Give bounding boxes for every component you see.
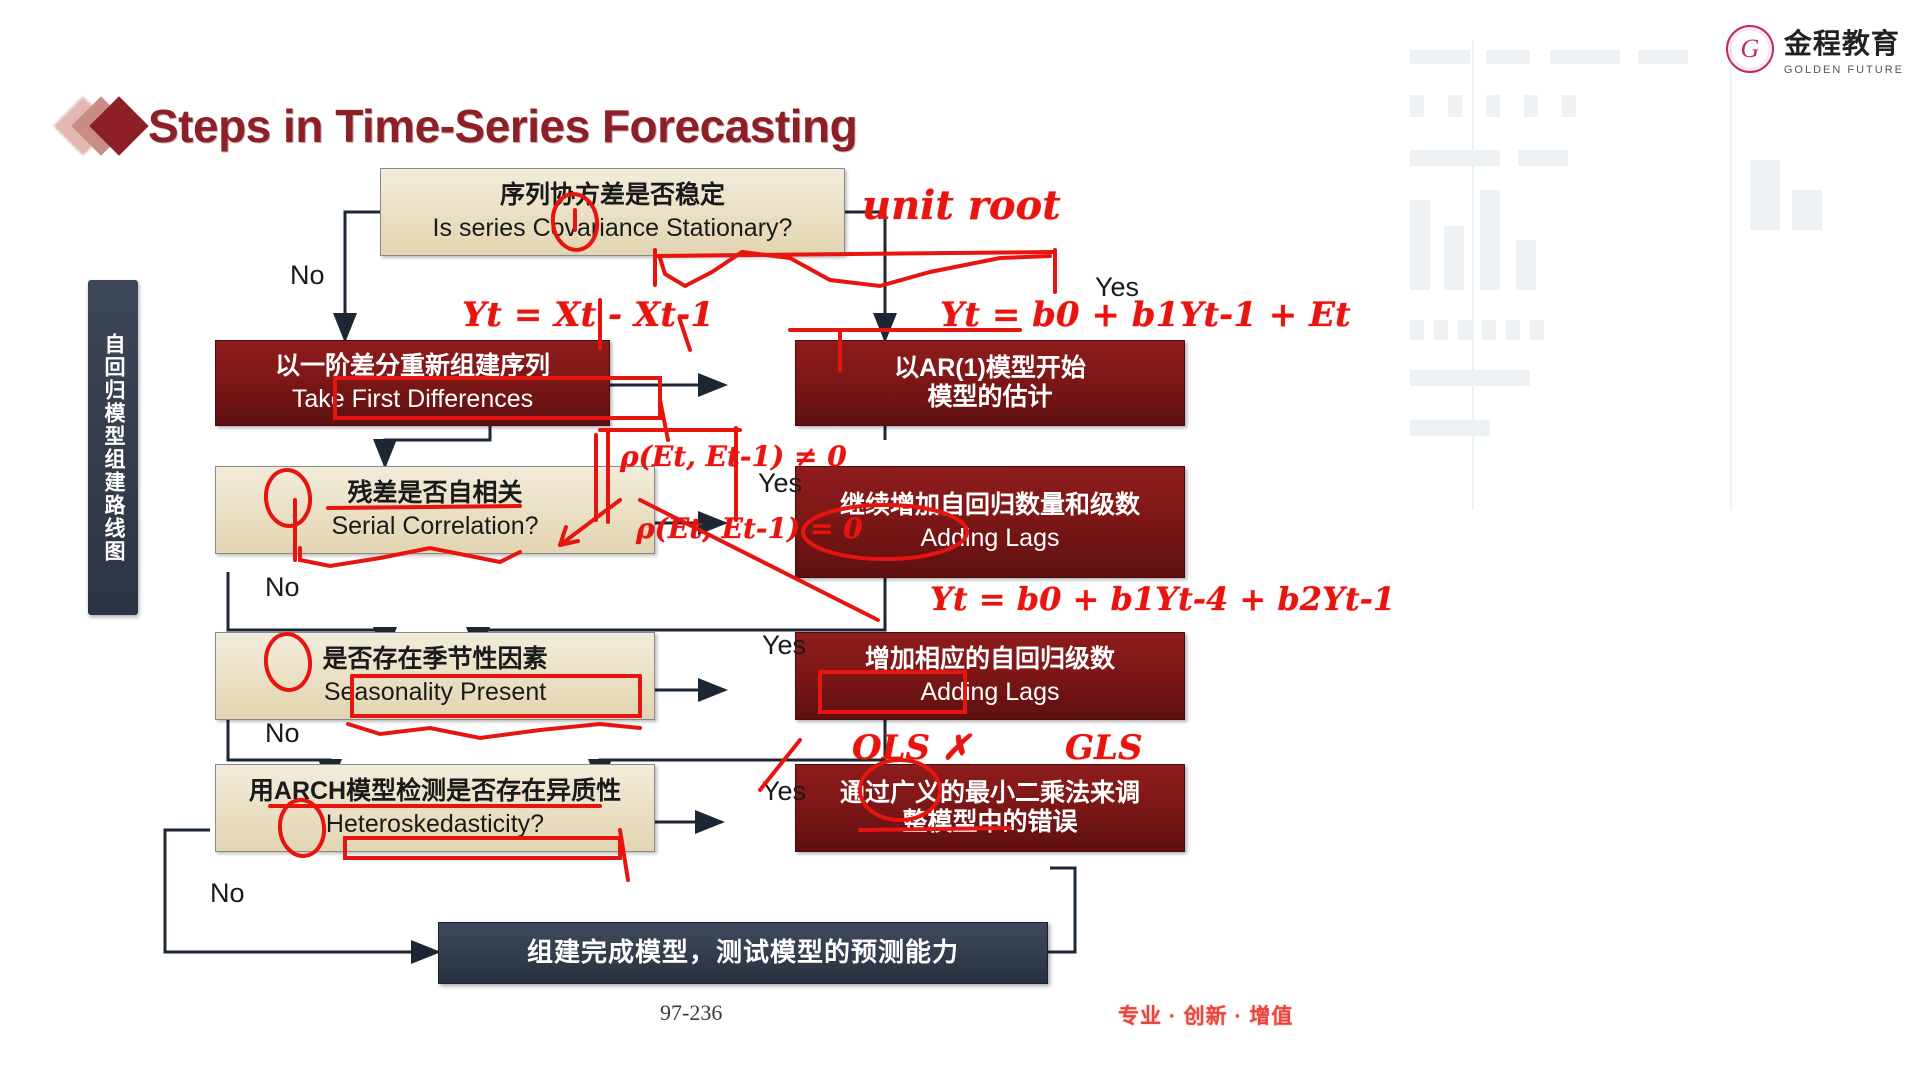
edge-label-no-stationary: No <box>290 260 325 291</box>
node-label-en: Is series Covariance Stationary? <box>433 214 793 243</box>
node-label-cn: 组建完成模型，测试模型的预测能力 <box>527 938 959 968</box>
node-label-cn: 增加相应的自回归级数 <box>865 645 1115 674</box>
node-label-en: Heteroskedasticity? <box>326 810 544 839</box>
edge-label-yes-hetero: Yes <box>762 776 806 807</box>
screenshot-root: Steps in Time-Series Forecasting 自回归模型组建… <box>0 0 1920 1080</box>
flow-node-heteroskedasticity[interactable]: 用ARCH模型检测是否存在异质性 Heteroskedasticity? <box>215 764 655 852</box>
flow-node-seasonality-present[interactable]: 是否存在季节性因素 Seasonality Present <box>215 632 655 720</box>
edge-label-no-hetero: No <box>210 878 245 909</box>
node-label-en: Seasonality Present <box>324 678 546 707</box>
node-label-en: 整模型中的错误 <box>902 808 1077 837</box>
flowchart: 序列协方差是否稳定 Is series Covariance Stationar… <box>0 0 1400 1020</box>
node-label-cn: 通过广义的最小二乘法来调 <box>840 779 1140 808</box>
node-label-en: Adding Lags <box>920 678 1059 707</box>
flow-node-start-ar1-model[interactable]: 以AR(1)模型开始 模型的估计 <box>795 340 1185 426</box>
node-label-cn: 残差是否自相关 <box>347 479 522 508</box>
right-panel: 金程教育 GOLDEN FUTURE <box>1400 0 1920 1080</box>
presentation-slide: Steps in Time-Series Forecasting 自回归模型组建… <box>0 0 1400 1080</box>
node-label-cn: 继续增加自回归数量和级数 <box>840 491 1140 520</box>
flowchart-connectors <box>0 0 1400 1020</box>
node-label-en: Take First Differences <box>292 385 533 414</box>
node-label-en: 模型的估计 <box>927 383 1052 412</box>
flow-node-covariance-stationary[interactable]: 序列协方差是否稳定 Is series Covariance Stationar… <box>380 168 845 256</box>
edge-label-yes-serial: Yes <box>758 468 802 499</box>
node-label-cn: 序列协方差是否稳定 <box>500 181 725 210</box>
flow-node-add-seasonal-lags[interactable]: 增加相应的自回归级数 Adding Lags <box>795 632 1185 720</box>
edge-label-yes-season: Yes <box>762 630 806 661</box>
node-label-cn: 是否存在季节性因素 <box>322 645 547 674</box>
edge-label-no-season: No <box>265 718 300 749</box>
slide-slogan: 专业 · 创新 · 增值 <box>1118 1000 1293 1030</box>
flow-node-model-complete[interactable]: 组建完成模型，测试模型的预测能力 <box>438 922 1048 984</box>
screen-share-ghost <box>1400 40 1920 520</box>
flow-node-take-first-differences[interactable]: 以一阶差分重新组建序列 Take First Differences <box>215 340 610 426</box>
node-label-cn: 以AR(1)模型开始 <box>894 354 1086 383</box>
edge-label-no-serial: No <box>265 572 300 603</box>
flow-node-serial-correlation[interactable]: 残差是否自相关 Serial Correlation? <box>215 466 655 554</box>
node-label-en: Adding Lags <box>920 524 1059 553</box>
node-label-en: Serial Correlation? <box>331 512 538 541</box>
slide-page-number: 97-236 <box>660 1000 722 1026</box>
flow-node-use-gls[interactable]: 通过广义的最小二乘法来调 整模型中的错误 <box>795 764 1185 852</box>
flow-node-add-autoregressive-lags[interactable]: 继续增加自回归数量和级数 Adding Lags <box>795 466 1185 578</box>
edge-label-yes-stationary: Yes <box>1095 272 1139 303</box>
node-label-cn: 以一阶差分重新组建序列 <box>275 352 550 381</box>
node-label-cn: 用ARCH模型检测是否存在异质性 <box>249 777 621 806</box>
